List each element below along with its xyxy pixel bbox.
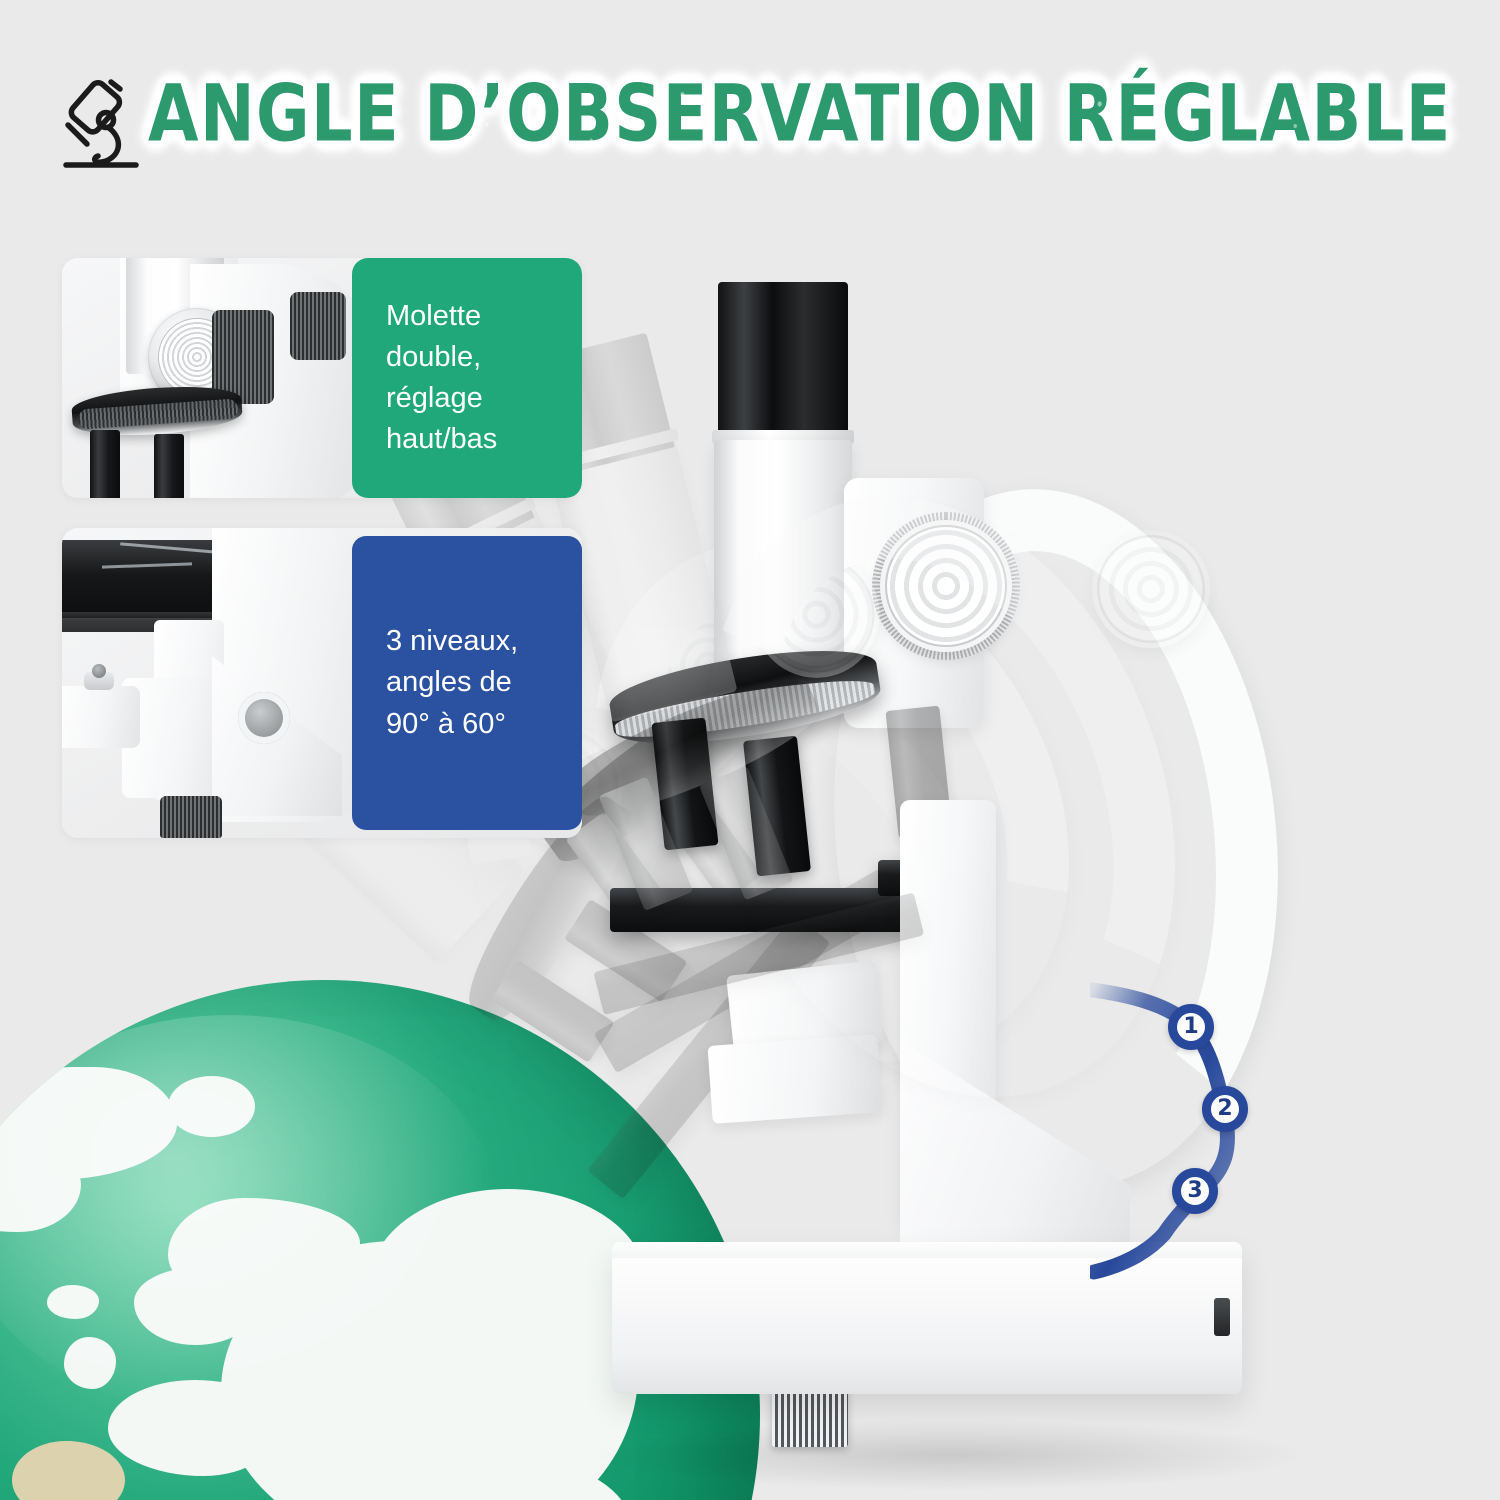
step-dot-2[interactable]: 2 [1202,1086,1248,1132]
feature-callout-three-tilt-levels: 3 niveaux, angles de 90° à 60° [352,536,582,830]
feature-callout-text-1: Molette double, réglage haut/bas [386,296,497,461]
feature-callout-text-2: 3 niveaux, angles de 90° à 60° [386,621,518,745]
step-dot-3-label: 3 [1187,1180,1202,1202]
step-dot-1[interactable]: 1 [1168,1004,1214,1050]
step-dot-3[interactable]: 3 [1172,1168,1218,1214]
step-dot-2-label: 2 [1217,1098,1232,1120]
microscope-icon [48,68,152,178]
feature-callout-dual-focus-knob: Molette double, réglage haut/bas [352,258,582,498]
feature-card-dual-focus-knob: Molette double, réglage haut/bas [62,258,582,498]
page-title: ANGLE D’OBSERVATION RÉGLABLE [148,60,1308,170]
step-dot-1-label: 1 [1183,1016,1198,1038]
product-image-microscope [600,240,1500,1440]
tilt-step-indicator: 1 2 3 [1090,950,1320,1280]
infographic-canvas: ANGLE D’OBSERVATION RÉGLABLE [0,0,1500,1500]
feature-card-three-tilt-levels: 3 niveaux, angles de 90° à 60° [62,528,582,838]
